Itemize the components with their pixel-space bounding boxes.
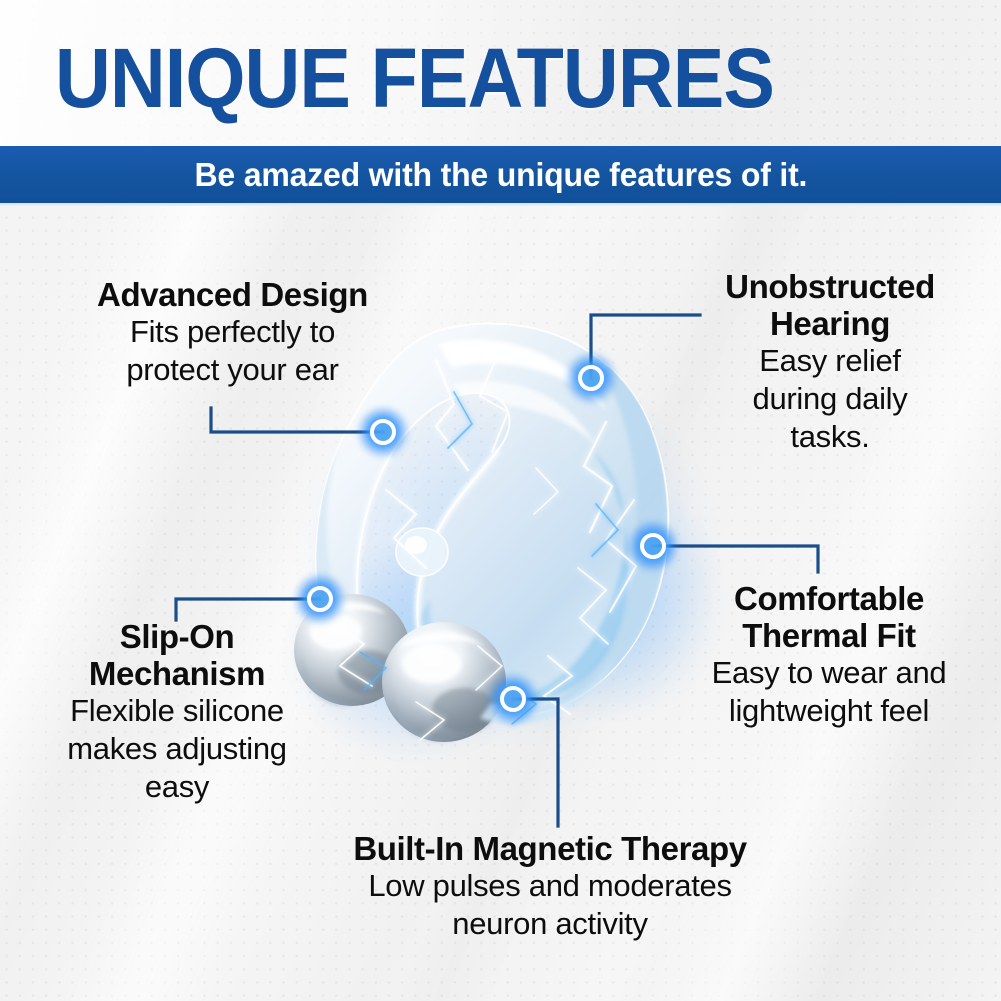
marker-ring-icon [500,686,526,712]
feature-heading: Slip-On Mechanism [22,618,332,692]
feature-heading: Advanced Design [60,276,405,313]
feature-label-slip-on-mechanism: Slip-On Mechanism Flexible silicone make… [22,618,332,806]
marker-ring-icon [578,365,604,391]
subtitle-text: Be amazed with the unique features of it… [194,156,807,194]
marker-unobstructed-hearing[interactable] [576,363,606,393]
feature-heading: Comfortable Thermal Fit [668,580,990,654]
marker-built-in-magnetic-therapy[interactable] [498,684,528,714]
feature-label-advanced-design: Advanced Design Fits perfectly to protec… [60,276,405,389]
feature-heading: Unobstructed Hearing [685,268,975,342]
feature-label-comfortable-thermal-fit: Comfortable Thermal Fit Easy to wear and… [668,580,990,730]
feature-body: Easy to wear and lightweight feel [668,654,990,730]
feature-body: Low pulses and moderates neuron activity [300,867,800,943]
feature-body: Flexible silicone makes adjusting easy [22,692,332,806]
marker-ring-icon [307,586,333,612]
marker-comfortable-thermal-fit[interactable] [638,531,668,561]
marker-slip-on-mechanism[interactable] [305,584,335,614]
banner-underline [0,203,1001,206]
marker-ring-icon [640,533,666,559]
feature-body: Fits perfectly to protect your ear [60,313,405,389]
marker-ring-icon [370,419,396,445]
feature-label-built-in-magnetic-therapy: Built-In Magnetic Therapy Low pulses and… [300,830,800,943]
subtitle-banner: Be amazed with the unique features of it… [0,146,1001,203]
marker-advanced-design[interactable] [368,417,398,447]
feature-label-unobstructed-hearing: Unobstructed Hearing Easy relief during … [685,268,975,456]
feature-heading: Built-In Magnetic Therapy [300,830,800,867]
page-title: UNIQUE FEATURES [55,36,774,120]
feature-body: Easy relief during daily tasks. [685,342,975,456]
infographic-page: UNIQUE FEATURES Be amazed with the uniqu… [0,0,1001,1001]
